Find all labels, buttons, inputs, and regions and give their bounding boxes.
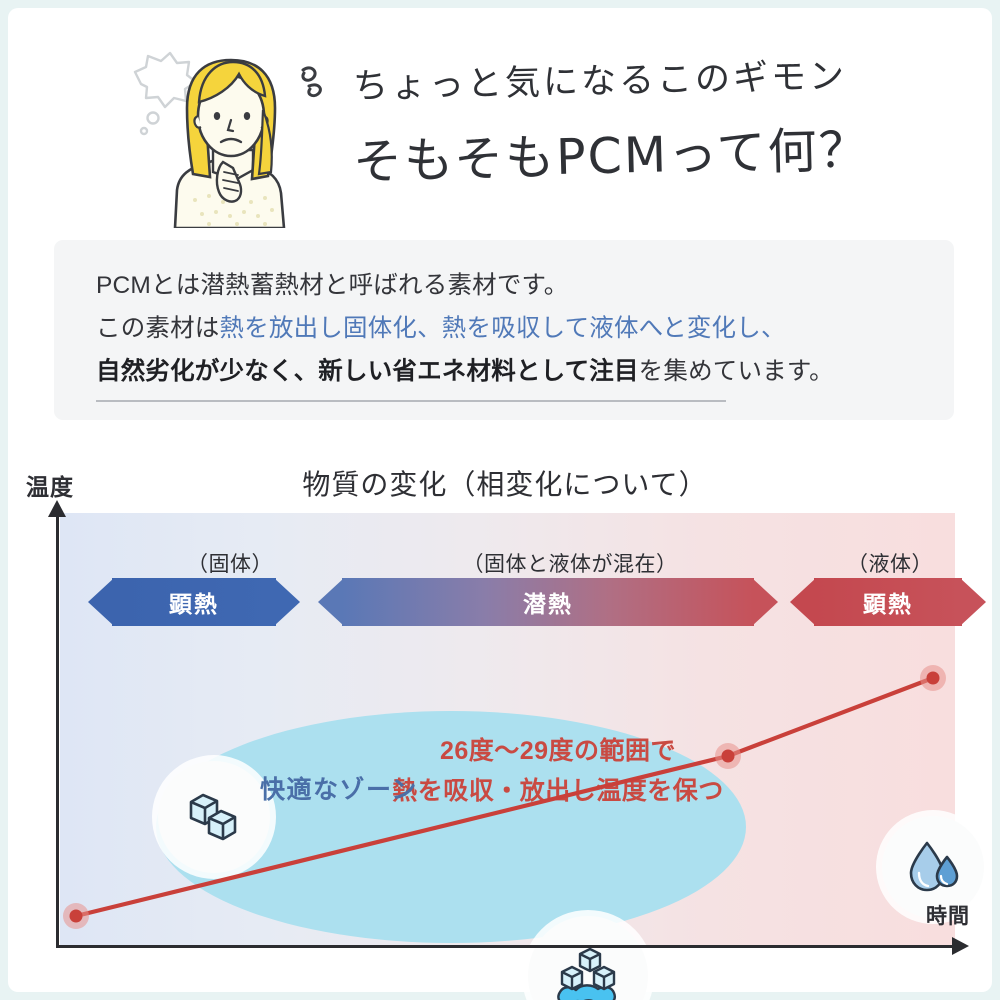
infographic-page: ちょっと気になるこのギモン そもそもPCMって何？ PCMとは潜熱蓄熱材と呼ばれ… [0, 0, 1000, 1000]
description-line-2-highlight: 熱を放出し固体化、熱を吸収して液体へと変化し、 [220, 315, 786, 342]
header-section: ちょっと気になるこのギモン そもそもPCMって何？ [8, 38, 992, 228]
arrow-head-icon [274, 578, 300, 626]
x-axis-label: 時間 [926, 900, 970, 930]
arrow-head-icon [752, 578, 778, 626]
arrow-bar-latent-heat: 潜熱 [318, 578, 778, 626]
y-axis-arrow-icon [48, 500, 66, 517]
range-note-line-1: 26度〜29度の範囲で [348, 731, 768, 771]
description-underline [96, 400, 726, 402]
arrow-label: 顕熱 [169, 585, 219, 619]
arrow-body: 顕熱 [112, 578, 276, 626]
arrow-tail-icon [88, 578, 114, 626]
arrow-tail-icon [318, 578, 344, 626]
chart-title: 物質の変化（相変化について） [8, 463, 992, 503]
white-card: ちょっと気になるこのギモン そもそもPCMって何？ PCMとは潜熱蓄熱材と呼ばれ… [8, 8, 992, 992]
description-line-1: PCMとは潜熱蓄熱材と呼ばれる素材です。 [96, 264, 926, 307]
description-line-2: この素材は熱を放出し固体化、熱を吸収して液体へと変化し、 [96, 307, 926, 350]
arrow-label: 潜熱 [523, 585, 573, 619]
phase-label-solid: （固体） [140, 548, 320, 578]
arrow-body: 潜熱 [342, 578, 754, 626]
description-line-3-bold: 自然劣化が少なく、新しい省エネ材料として注目 [96, 358, 639, 385]
description-line-2-prefix: この素材は [96, 315, 220, 342]
arrow-bar-sensible-heat-solid: 顕熱 [88, 578, 300, 626]
comfort-zone-label: 快適なゾーン [260, 770, 418, 806]
phase-label-mixed: （固体と液体が混在） [360, 548, 780, 578]
plot-background: （固体） （固体と液体が混在） （液体） 顕熱 潜熱 [60, 513, 955, 945]
x-axis-arrow-icon [952, 937, 969, 955]
headline: ちょっと気になるこのギモン そもそもPCMって何？ [353, 58, 953, 194]
headline-line-2: そもそもPCMって何？ [352, 108, 954, 194]
thinking-woman-illustration [113, 50, 348, 228]
arrow-label: 顕熱 [863, 585, 913, 619]
phase-change-chart: 温度 物質の変化（相変化について） （固体） （固体と液体が混在） （液体） 顕… [8, 448, 992, 992]
arrow-bar-sensible-heat-liquid: 顕熱 [790, 578, 986, 626]
arrow-body: 顕熱 [814, 578, 962, 626]
description-text: PCMとは潜熱蓄熱材と呼ばれる素材です。 この素材は熱を放出し固体化、熱を吸収し… [96, 264, 926, 393]
arrow-head-icon [960, 578, 986, 626]
arrow-tail-icon [790, 578, 816, 626]
phase-label-liquid: （液体） [800, 548, 980, 578]
description-line-3-suffix: を集めています。 [639, 358, 834, 385]
description-box: PCMとは潜熱蓄熱材と呼ばれる素材です。 この素材は熱を放出し固体化、熱を吸収し… [54, 240, 954, 420]
ice-cubes-icon [158, 761, 270, 873]
y-axis-line [56, 516, 59, 946]
headline-line-1: ちょっと気になるこのギモン [352, 45, 953, 109]
x-axis-line [56, 945, 956, 948]
description-line-3: 自然劣化が少なく、新しい省エネ材料として注目を集めています。 [96, 350, 926, 393]
